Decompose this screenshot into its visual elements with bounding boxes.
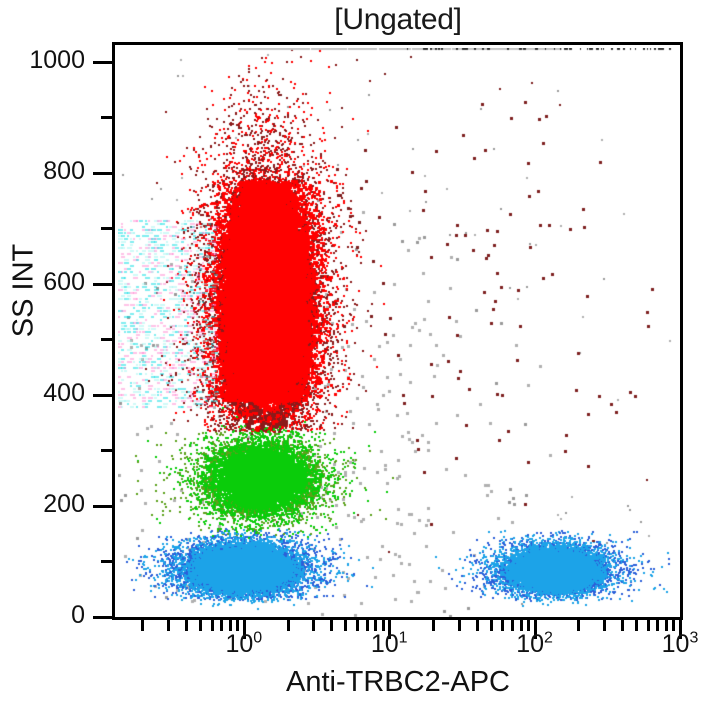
- y-tick-major: [93, 61, 112, 64]
- x-tick-label: 100: [184, 630, 304, 659]
- y-tick-minor: [101, 449, 112, 452]
- plot-title: [Ungated]: [112, 2, 684, 38]
- y-tick-minor: [101, 227, 112, 230]
- x-tick-label: 101: [329, 630, 449, 659]
- plot-area[interactable]: [112, 42, 683, 620]
- y-tick-major: [93, 505, 112, 508]
- y-tick-label: 600: [0, 268, 85, 297]
- x-tick-minor: [458, 620, 461, 631]
- y-tick-label: 0: [0, 601, 85, 630]
- y-tick-label: 200: [0, 490, 85, 519]
- y-tick-major: [93, 283, 112, 286]
- y-tick-major: [93, 616, 112, 619]
- y-tick-minor: [101, 338, 112, 341]
- y-tick-label: 400: [0, 379, 85, 408]
- y-tick-major: [93, 172, 112, 175]
- x-tick-minor: [312, 620, 315, 631]
- x-tick-minor: [167, 620, 170, 631]
- y-tick-label: 1000: [0, 46, 85, 75]
- y-tick-major: [93, 394, 112, 397]
- x-tick-minor: [141, 620, 144, 631]
- y-tick-minor: [101, 116, 112, 119]
- x-tick-label: 103: [620, 630, 706, 659]
- x-tick-label: 102: [475, 630, 595, 659]
- y-tick-minor: [101, 560, 112, 563]
- scatter-plot-canvas[interactable]: [118, 48, 683, 620]
- x-tick-minor: [603, 620, 606, 631]
- y-tick-label: 800: [0, 157, 85, 186]
- flow-cytometry-figure: [Ungated] SS INT 02004006008001000 10010…: [0, 0, 706, 709]
- x-axis-label: Anti-TRBC2-APC: [112, 666, 684, 699]
